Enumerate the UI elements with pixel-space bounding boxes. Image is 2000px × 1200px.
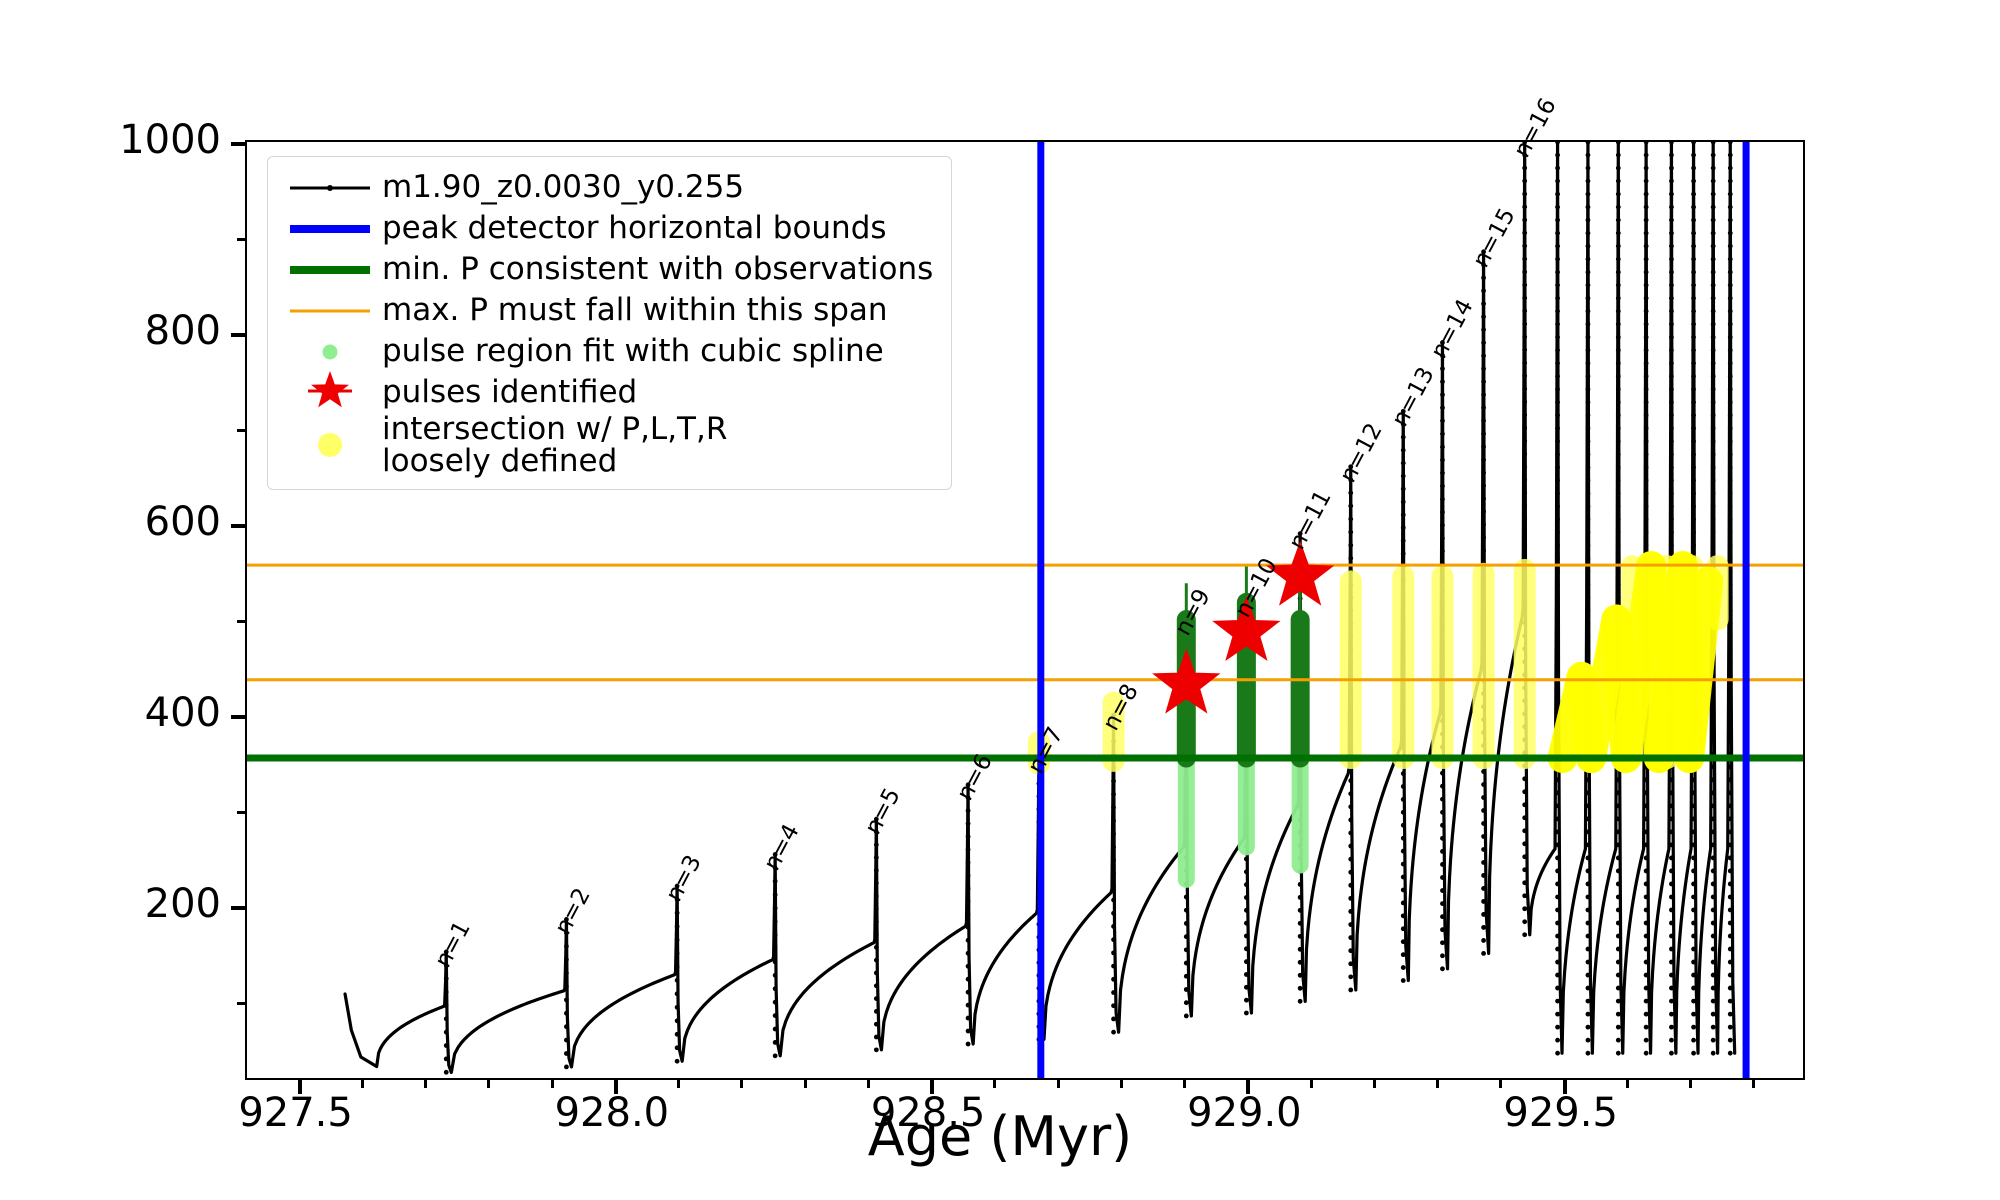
x-tick-minor [1373, 1078, 1376, 1088]
y-tick-minor [237, 238, 247, 241]
x-tick-minor [424, 1078, 427, 1088]
y-tick-mark [231, 906, 247, 910]
y-tick-mark [231, 524, 247, 528]
model-dot-swatch [327, 185, 333, 191]
green-dot-key-icon [282, 331, 378, 372]
max-period-swatch [290, 309, 370, 312]
x-tick-minor [1626, 1078, 1629, 1088]
legend-item-label: m1.90_z0.0030_y0.255 [378, 171, 744, 203]
x-tick-minor [1689, 1078, 1692, 1088]
legend-item-2[interactable]: min. P consistent with observations [282, 249, 933, 290]
x-tick-minor [551, 1078, 554, 1088]
red-star-key-icon [282, 372, 378, 413]
x-tick-label: 929.5 [1503, 1090, 1618, 1136]
peak-bound-swatch [290, 225, 370, 233]
legend-item-4[interactable]: pulse region fit with cubic spline [282, 331, 933, 372]
legend-item-label: intersection w/ P,L,T,R loosely defined [378, 413, 727, 477]
x-tick-minor [1120, 1078, 1123, 1088]
x-tick-label: 929.0 [1187, 1090, 1302, 1136]
y-tick-label: 200 [145, 881, 221, 927]
min-period-swatch [290, 266, 370, 274]
intersection-swatch [318, 433, 342, 457]
x-tick-label: 928.0 [555, 1090, 670, 1136]
y-tick-label: 800 [145, 308, 221, 354]
x-tick-label: 927.5 [238, 1090, 353, 1136]
y-tick-label: 600 [145, 499, 221, 545]
x-tick-minor [1499, 1078, 1502, 1088]
x-tick-minor [1752, 1078, 1755, 1088]
y-tick-label: 1000 [119, 117, 221, 163]
legend-item-label: peak detector horizontal bounds [378, 212, 887, 244]
y-tick-mark [231, 715, 247, 719]
intersection-band-dense [1689, 581, 1708, 758]
legend-item-6[interactable]: intersection w/ P,L,T,R loosely defined [282, 413, 933, 477]
x-tick-minor [1310, 1078, 1313, 1088]
x-tick-minor [1057, 1078, 1060, 1088]
legend-item-3[interactable]: max. P must fall within this span [282, 290, 933, 331]
legend-item-5[interactable]: pulses identified [282, 372, 933, 413]
green-line-key-icon [282, 249, 378, 290]
spline-fit-swatch [323, 344, 338, 359]
y-tick-label: 400 [145, 690, 221, 736]
x-tick-minor [804, 1078, 807, 1088]
y-tick-minor [237, 429, 247, 432]
y-tick-mark [231, 142, 247, 146]
x-tick-minor [361, 1078, 364, 1088]
chart-legend[interactable]: m1.90_z0.0030_y0.255peak detector horizo… [267, 156, 952, 490]
blue-line-key-icon [282, 208, 378, 249]
legend-item-label: max. P must fall within this span [378, 294, 888, 326]
legend-item-label: pulses identified [378, 376, 637, 408]
legend-item-label: min. P consistent with observations [378, 253, 933, 285]
orange-line-key-icon [282, 290, 378, 331]
x-tick-minor [487, 1078, 490, 1088]
pulse-star-swatch [306, 369, 354, 417]
chart-figure: FM period (days) Age (Myr) n=1n=2n=3n=4n… [0, 0, 2000, 1200]
legend-item-label: pulse region fit with cubic spline [378, 335, 884, 367]
y-tick-minor [237, 620, 247, 623]
x-tick-minor [1183, 1078, 1186, 1088]
yellow-dot-key-icon [282, 425, 378, 466]
x-tick-minor [993, 1078, 996, 1088]
line-dot-key-icon [282, 167, 378, 208]
y-tick-mark [231, 333, 247, 337]
x-tick-minor [677, 1078, 680, 1088]
x-tick-label: 928.5 [871, 1090, 986, 1136]
x-tick-minor [867, 1078, 870, 1088]
y-tick-minor [237, 811, 247, 814]
x-tick-minor [1436, 1078, 1439, 1088]
x-tick-minor [740, 1078, 743, 1088]
legend-item-1[interactable]: peak detector horizontal bounds [282, 208, 933, 249]
plot-area: n=1n=2n=3n=4n=5n=6n=7n=8n=9n=10n=11n=12n… [245, 140, 1805, 1080]
y-tick-minor [237, 1002, 247, 1005]
legend-item-0[interactable]: m1.90_z0.0030_y0.255 [282, 167, 933, 208]
